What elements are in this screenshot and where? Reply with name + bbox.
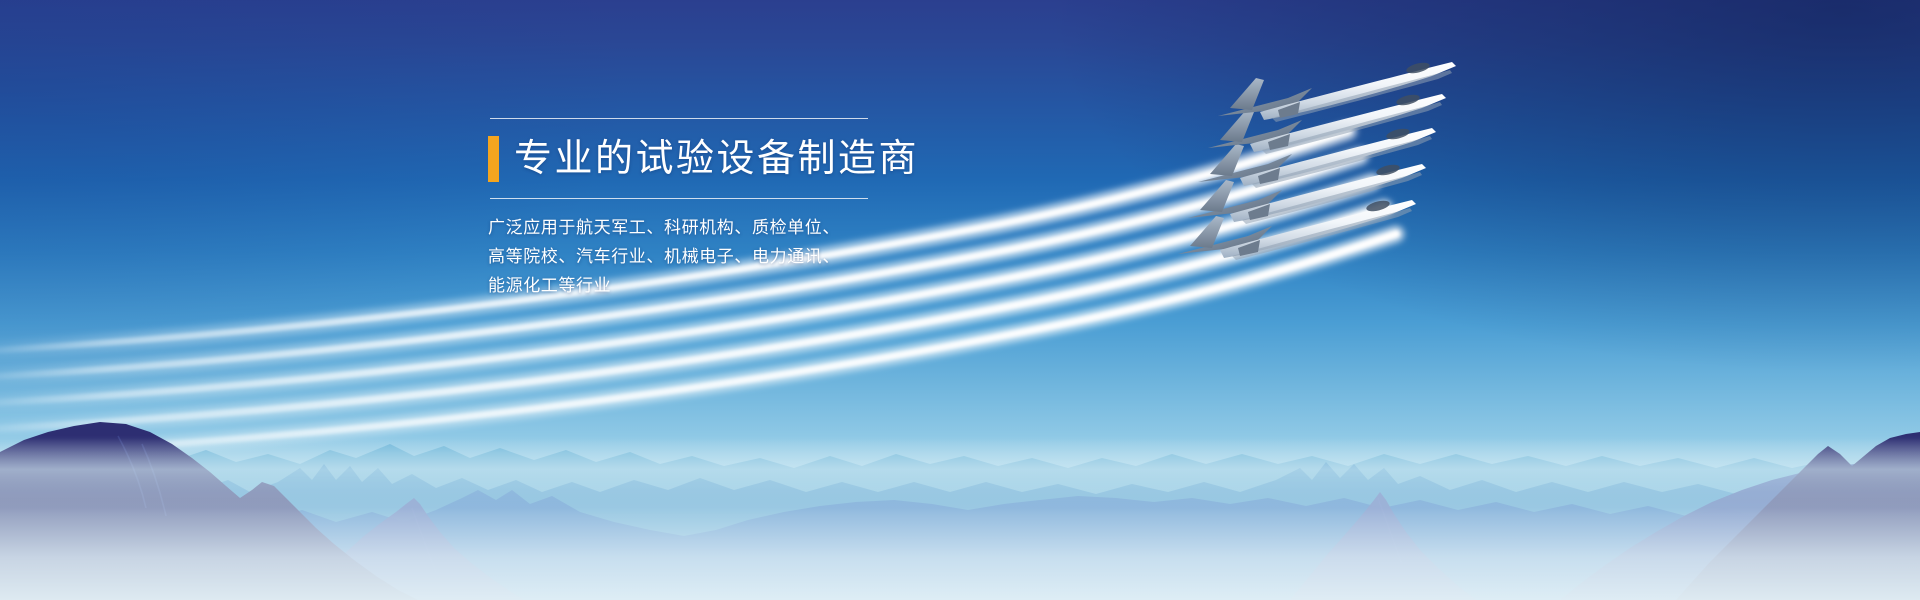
page-title: 专业的试验设备制造商: [514, 140, 919, 178]
subtitle-line-1: 广泛应用于航天军工、科研机构、质检单位、: [488, 213, 1008, 242]
mountain-range: [0, 340, 1920, 600]
banner-copy: 专业的试验设备制造商 广泛应用于航天军工、科研机构、质检单位、 高等院校、汽车行…: [488, 118, 1008, 301]
subtitle-line-2: 高等院校、汽车行业、机械电子、电力通讯、: [488, 242, 1008, 271]
subtitle-line-3: 能源化工等行业: [488, 271, 1008, 300]
banner-subtitle: 广泛应用于航天军工、科研机构、质检单位、 高等院校、汽车行业、机械电子、电力通讯…: [488, 213, 1008, 301]
divider-top: [490, 118, 868, 119]
headline-row: 专业的试验设备制造商: [488, 128, 1008, 190]
accent-bar-icon: [488, 136, 499, 182]
divider-bottom: [490, 198, 868, 199]
jet-formation: [1120, 40, 1540, 270]
hero-banner: 专业的试验设备制造商 广泛应用于航天军工、科研机构、质检单位、 高等院校、汽车行…: [0, 0, 1920, 600]
